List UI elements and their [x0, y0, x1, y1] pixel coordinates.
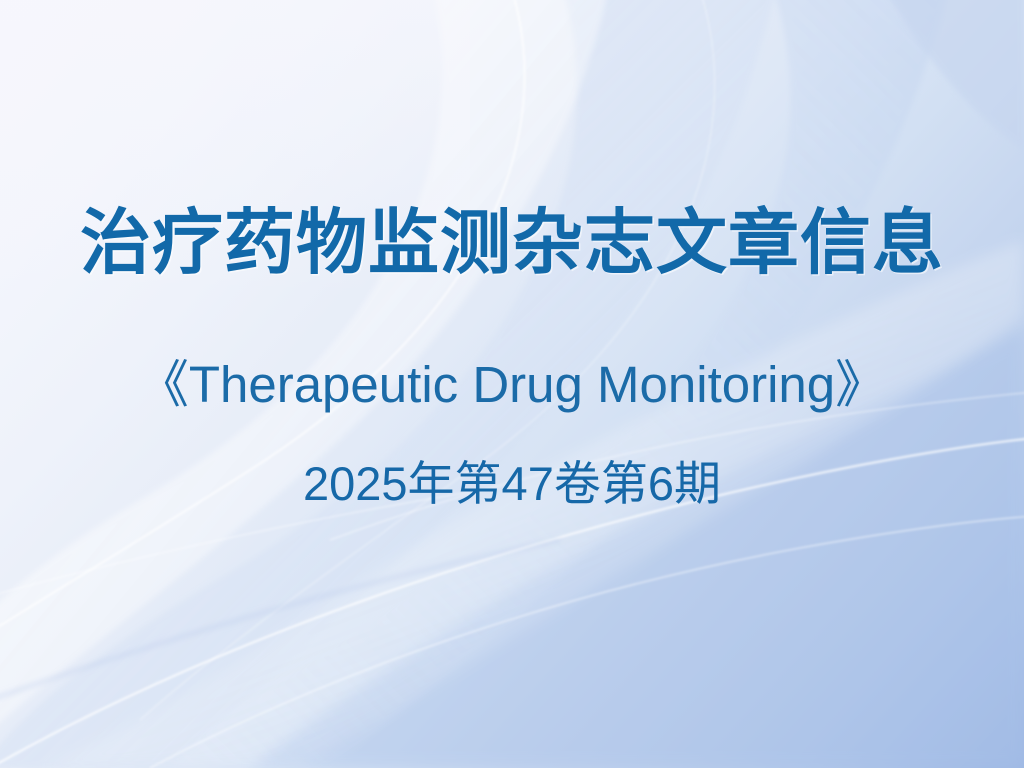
page-title: 治疗药物监测杂志文章信息 — [0, 206, 1024, 283]
issue-line: 2025年第47卷第6期 — [0, 458, 1024, 511]
title-slide: 治疗药物监测杂志文章信息 《Therapeutic Drug Monitorin… — [0, 0, 1024, 768]
journal-name: 《Therapeutic Drug Monitoring》 — [0, 356, 1024, 413]
slide-text-content: 治疗药物监测杂志文章信息 《Therapeutic Drug Monitorin… — [0, 0, 1024, 768]
